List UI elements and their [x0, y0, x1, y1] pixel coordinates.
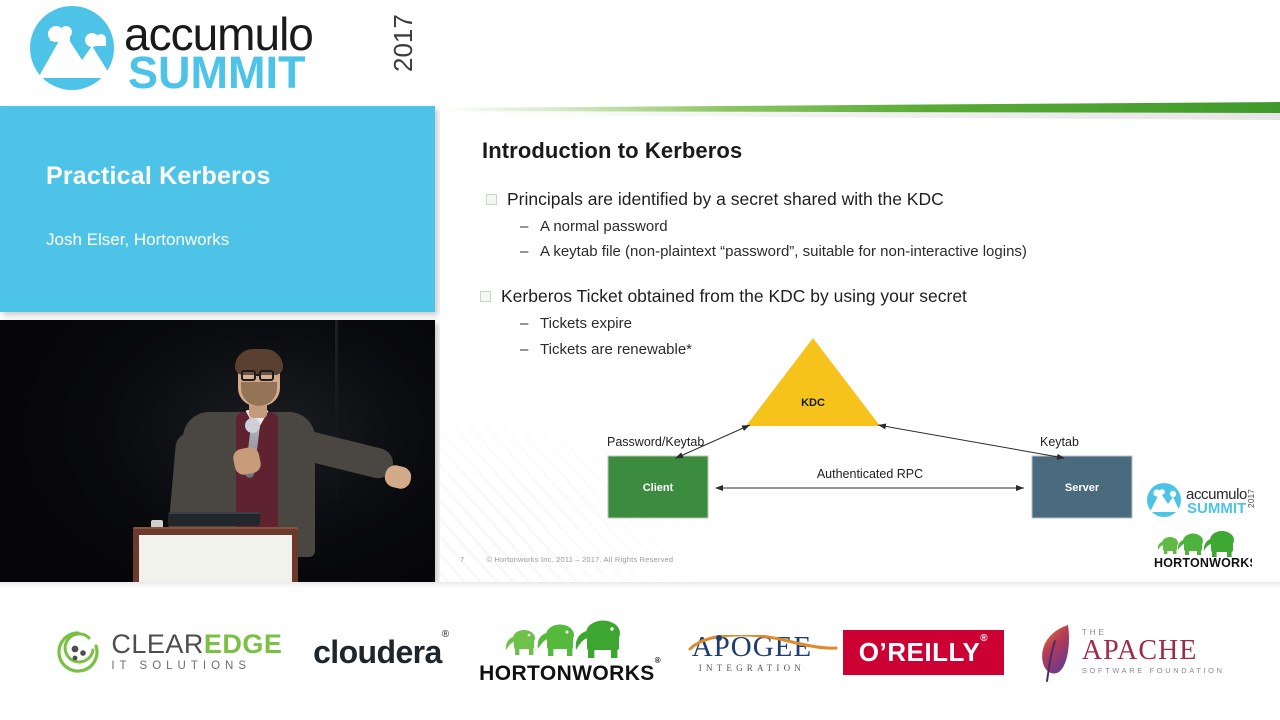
laptop — [168, 512, 261, 526]
apache-tagline: SOFTWARE FOUNDATION — [1082, 667, 1225, 675]
sponsor-apogee[interactable]: APOGEE INTEGRATION — [692, 631, 812, 673]
dash-bullet-icon: – — [520, 313, 531, 335]
mini-hortonworks-logo: HORTONWORKS — [1152, 530, 1252, 570]
cloudera-registered-mark: ® — [442, 629, 449, 640]
sponsor-oreilly[interactable]: O’REILLY® — [843, 630, 1004, 675]
bullet-item: Kerberos Ticket obtained from the KDC by… — [480, 285, 1260, 309]
podium — [133, 527, 298, 582]
bullet-text: Principals are identified by a secret sh… — [507, 188, 944, 212]
green-accent-wedge — [440, 100, 1280, 123]
cloudera-wordmark: cloudera — [313, 634, 442, 670]
apache-feather-icon — [1035, 621, 1075, 683]
clearedge-text-a: CLEAR — [111, 629, 204, 659]
apogee-tagline: INTEGRATION — [699, 663, 805, 673]
hortonworks-registered-mark: ® — [655, 656, 661, 665]
apogee-swoosh-icon — [688, 635, 838, 651]
presentation-slide: Introduction to Kerberos Principals are … — [440, 100, 1280, 582]
sponsor-cloudera[interactable]: cloudera® — [313, 634, 448, 671]
svg-text:2017: 2017 — [1246, 489, 1256, 508]
bullet-item: Principals are identified by a secret sh… — [486, 188, 1260, 212]
clearedge-text-b: EDGE — [204, 629, 283, 659]
sponsor-apache[interactable]: THE APACHE SOFTWARE FOUNDATION — [1035, 621, 1225, 683]
server-label: Server — [1065, 482, 1100, 494]
dash-bullet-icon: – — [520, 216, 531, 238]
sub-bullet-item: – A keytab file (non-plaintext “password… — [520, 241, 1260, 263]
client-label: Client — [643, 482, 674, 494]
edge-server-kdc — [878, 425, 1064, 458]
conference-header: accumulo SUMMIT 2017 — [0, 0, 1280, 100]
slide-page-number: 7 — [460, 555, 464, 564]
edge-left-label: Password/Keytab — [607, 435, 704, 449]
slide-corner-logos: accumulo SUMMIT 2017 HORTONWORKS — [1146, 480, 1258, 572]
speaker-video[interactable] — [0, 320, 435, 582]
kerberos-diagram: KDC Client Server Password/Keytab Keytab… — [580, 330, 1160, 550]
sponsor-divider — [0, 582, 1280, 588]
slide-copyright: © Hortonworks Inc. 2011 – 2017. All Righ… — [486, 555, 673, 564]
talk-title: Practical Kerberos — [46, 162, 271, 191]
talk-title-card: Practical Kerberos Josh Elser, Hortonwor… — [0, 106, 435, 312]
slide-title: Introduction to Kerberos — [482, 138, 742, 164]
accumulo-summit-logo: accumulo SUMMIT 2017 — [20, 6, 430, 94]
clearedge-icon — [55, 629, 101, 675]
sponsor-hortonworks[interactable]: HORTONWORKS® — [479, 618, 661, 686]
edge-right-label: Keytab — [1040, 435, 1079, 449]
dash-bullet-icon: – — [520, 241, 531, 263]
bullet-text: Kerberos Ticket obtained from the KDC by… — [501, 285, 967, 309]
svg-text:HORTONWORKS: HORTONWORKS — [1154, 556, 1252, 570]
oreilly-wordmark: O’REILLY — [859, 637, 981, 667]
sponsor-clearedge[interactable]: CLEAREDGE IT SOLUTIONS — [55, 629, 282, 675]
sub-bullet-text: A normal password — [540, 216, 668, 238]
kdc-label: KDC — [801, 397, 825, 409]
svg-text:SUMMIT: SUMMIT — [1187, 500, 1246, 517]
kdc-triangle — [746, 338, 880, 426]
slide-footer: 7 © Hortonworks Inc. 2011 – 2017. All Ri… — [460, 555, 673, 564]
hortonworks-elephants-icon — [500, 618, 640, 660]
hortonworks-wordmark: HORTONWORKS — [479, 662, 655, 685]
sponsor-strip: CLEAREDGE IT SOLUTIONS cloudera® — [0, 582, 1280, 720]
mini-accumulo-summit-logo: accumulo SUMMIT 2017 — [1146, 480, 1258, 526]
square-bullet-icon — [486, 194, 497, 205]
sub-bullet-text: A keytab file (non-plaintext “password”,… — [540, 241, 1027, 263]
dash-bullet-icon: – — [520, 339, 531, 361]
svg-text:SUMMIT: SUMMIT — [128, 47, 305, 94]
talk-speaker: Josh Elser, Hortonworks — [46, 230, 229, 250]
edge-bottom-label: Authenticated RPC — [817, 467, 923, 481]
clearedge-tagline: IT SOLUTIONS — [111, 661, 282, 673]
square-bullet-icon — [480, 291, 491, 302]
apache-wordmark: APACHE — [1082, 637, 1225, 665]
sub-bullet-item: – A normal password — [520, 216, 1260, 238]
svg-text:2017: 2017 — [388, 14, 418, 72]
oreilly-registered-mark: ® — [980, 633, 988, 644]
